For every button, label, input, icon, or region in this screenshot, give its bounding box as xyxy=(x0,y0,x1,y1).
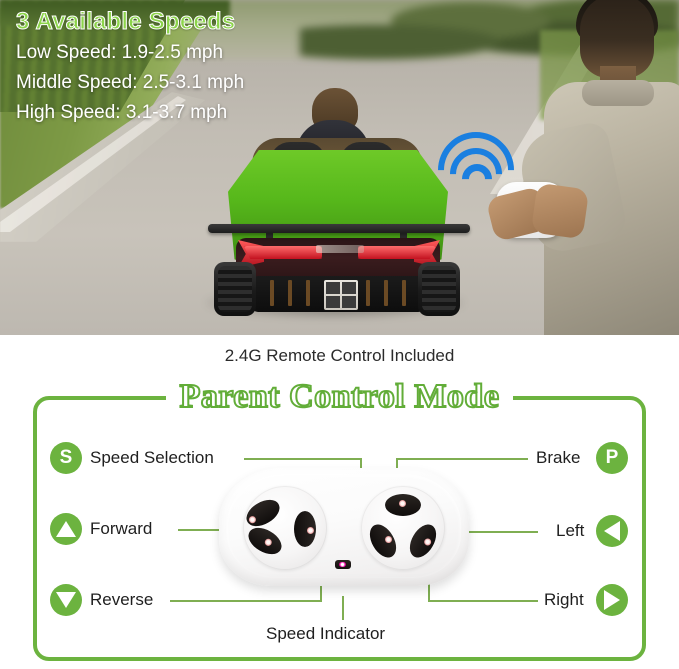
led-indicator-icon xyxy=(335,560,351,569)
leader-reverse-h xyxy=(170,600,322,602)
wheel-right xyxy=(418,262,460,316)
remote-pad-left xyxy=(243,486,327,570)
adult-with-remote xyxy=(540,0,679,335)
remote-pad-right xyxy=(361,486,445,570)
leader-brake-h xyxy=(396,458,528,460)
callout-forward: Forward xyxy=(90,519,152,539)
letter-s-badge-icon: S xyxy=(50,442,82,474)
diffuser-fin xyxy=(288,280,292,306)
leader-speed-selection-h xyxy=(244,458,362,460)
triangle-up-badge-icon xyxy=(50,513,82,545)
badge-glyph: P xyxy=(606,447,619,469)
remote-caption: 2.4G Remote Control Included xyxy=(0,337,679,375)
diffuser-fin xyxy=(366,280,370,306)
rear-spoiler xyxy=(208,224,470,233)
triangle-left-badge-icon xyxy=(596,515,628,547)
letter-p-badge-icon: P xyxy=(596,442,628,474)
triangle-down-badge-icon xyxy=(50,584,82,616)
callout-brake: Brake xyxy=(536,448,580,468)
callout-right: Right xyxy=(544,590,584,610)
triangle-right-badge-icon xyxy=(596,584,628,616)
remote-diagram xyxy=(219,468,469,598)
panel-title: Parent Control Mode xyxy=(0,378,679,416)
taillight-left xyxy=(244,246,322,259)
rear-plate xyxy=(324,280,358,310)
leader-speed-indicator xyxy=(342,596,344,620)
hedge-top xyxy=(0,0,230,26)
button-brake[interactable] xyxy=(385,494,421,516)
diffuser-fin xyxy=(402,280,406,306)
diffuser-fin xyxy=(270,280,274,306)
badge-glyph: S xyxy=(60,447,73,469)
hero-photo: 3 Available Speeds Low Speed: 1.9-2.5 mp… xyxy=(0,0,679,335)
callout-speed-selection: Speed Selection xyxy=(90,448,214,468)
panel-title-text: Parent Control Mode xyxy=(166,378,514,416)
adult-hand-right xyxy=(531,183,589,240)
callout-speed-indicator: Speed Indicator xyxy=(266,624,385,644)
taillight-right xyxy=(358,246,436,259)
diffuser-fin xyxy=(306,280,310,306)
wheel-left xyxy=(214,262,256,316)
callout-reverse: Reverse xyxy=(90,590,153,610)
car-brand-badge xyxy=(316,245,364,253)
callout-left: Left xyxy=(556,521,584,541)
adult-collar xyxy=(582,80,654,106)
leader-right-h xyxy=(428,600,538,602)
diffuser-fin xyxy=(384,280,388,306)
wifi-signal-icon xyxy=(432,108,528,204)
button-speed-selection[interactable] xyxy=(294,511,316,547)
